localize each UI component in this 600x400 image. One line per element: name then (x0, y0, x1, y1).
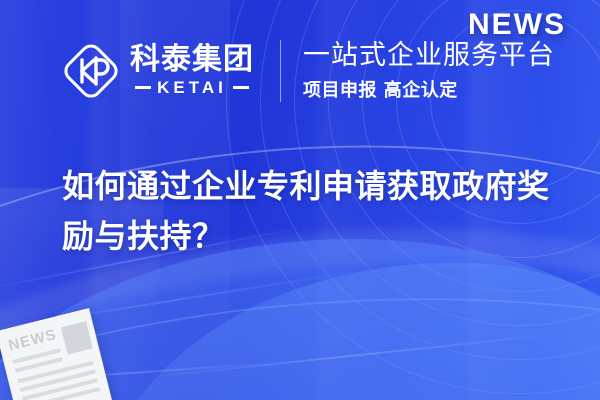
logo-dash-left (135, 86, 151, 89)
news-wordmark: NEWS (468, 8, 566, 42)
newspaper-image-block (61, 321, 93, 354)
logo-kp-monogram-icon (60, 40, 122, 102)
logo-company-name-en: KETAI (157, 78, 227, 98)
ketai-logo-icon (60, 40, 122, 102)
tagline-group: 一站式企业服务平台 项目申报 高企认定 (303, 40, 555, 102)
logo-dash-right (233, 86, 249, 89)
headline-title: 如何通过企业专利申请获取政府奖励与扶持？ (62, 162, 562, 261)
tagline-main: 一站式企业服务平台 (303, 40, 555, 72)
tagline-sub: 项目申报 高企认定 (303, 76, 555, 102)
logo-en-row: KETAI (135, 78, 249, 98)
logo-wordmark: 科泰集团 KETAI (130, 44, 254, 98)
logo-company-name-cn: 科泰集团 (130, 44, 254, 76)
banner-header: 科泰集团 KETAI 一站式企业服务平台 项目申报 高企认定 (60, 40, 555, 102)
header-divider (280, 40, 281, 102)
news-banner: NEWS 科泰集团 KETAI 一站式企业服务平台 项目申报 高企认定 (0, 0, 600, 400)
